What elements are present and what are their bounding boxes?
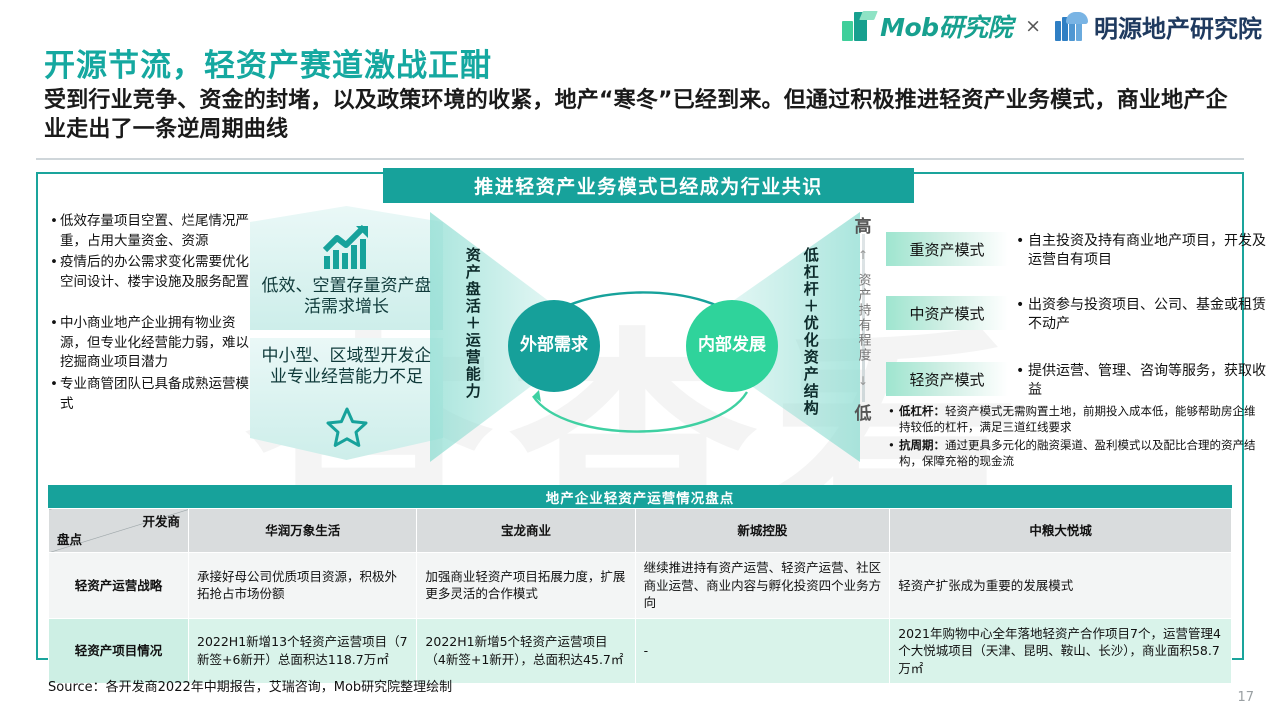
circle-external-demand: 外部需求 <box>508 300 600 392</box>
mode-description: • 自主投资及持有商业地产项目，开发及运营自有项目 <box>1016 232 1266 270</box>
bullet-dot-icon: • <box>1016 232 1028 270</box>
logo-bar: Mob研究院 × 明源地产研究院 <box>842 8 1262 44</box>
list-item: • 中小商业地产企业拥有物业资源，但专业化经营能力弱，难以挖掘商业项目潜力 <box>48 314 258 373</box>
row-header: 轻资产项目情况 <box>49 618 189 684</box>
hex-card-label: 低效、空置存量资产盘活需求增长 <box>258 276 435 319</box>
hex-card-demand: 低效、空置存量资产盘活需求增长 <box>250 206 443 330</box>
bullet-dot-icon: • <box>48 314 60 373</box>
table-cell: 加强商业轻资产项目拓展力度，扩展更多灵活的合作模式 <box>417 553 635 619</box>
funnel-left-label: 资产盘活＋运营能力 <box>464 247 480 400</box>
bullet-dot-icon: • <box>1016 296 1028 334</box>
source-note: Source：各开发商2022年中期报告，艾瑞咨询，Mob研究院整理绘制 <box>48 676 452 695</box>
book-icon <box>1054 11 1088 41</box>
table-cell: 2022H1新增13个轻资产运营项目（7新签+6新开）总面积达118.7万㎡ <box>189 618 417 684</box>
circle-label: 内部发展 <box>698 335 766 356</box>
circle-internal-development: 内部发展 <box>686 300 778 392</box>
table-cell: 继续推进持有资产运营、轻资产运营、社区商业运营、商业内容与孵化投资四个业务方向 <box>635 553 890 619</box>
mode-description-text: 自主投资及持有商业地产项目，开发及运营自有项目 <box>1028 232 1266 270</box>
axis-label-middle: 资产持有程度 <box>857 273 870 363</box>
table-header-row: 开发商 盘点 华润万象生活 宝龙商业 新城控股 中粮大悦城 <box>49 509 1232 553</box>
bullet-group-1: • 低效存量项目空置、烂尾情况严重，占用大量资金、资源 • 疫情后的办公需求变化… <box>48 212 258 292</box>
mob-logo: Mob研究院 <box>842 8 1012 44</box>
axis-arrow-down-icon: ↓ <box>858 375 868 387</box>
note-text: 通过更具多元化的融资渠道、盈利模式以及配比合理的资产结构，保障充裕的现金流 <box>899 438 1256 468</box>
table-row: 轻资产运营战略 承接好母公司优质项目资源，积极外拓抢占市场份额 加强商业轻资产项… <box>49 553 1232 619</box>
mingyuan-logo: 明源地产研究院 <box>1054 9 1262 44</box>
mingyuan-logo-text: 明源地产研究院 <box>1094 9 1262 44</box>
bullet-dot-icon: • <box>48 253 60 292</box>
advantage-notes: • 低杠杆：轻资产模式无需购置土地，前期投入成本低，能够帮助房企维持较低的杠杆，… <box>888 404 1258 472</box>
table-cell: - <box>635 618 890 684</box>
bullet-dot-icon: • <box>888 404 899 435</box>
mode-tag: 中资产模式 <box>886 296 1008 330</box>
table-corner-cell: 开发商 盘点 <box>49 509 189 553</box>
mode-row-medium: 中资产模式 • 出资参与投资项目、公司、基金或租赁不动产 <box>886 296 1266 334</box>
corner-label-metric: 盘点 <box>57 531 82 549</box>
hex-card-label: 中小型、区域型开发企业专业经营能力不足 <box>258 346 435 389</box>
asset-holding-axis: 高 ↑ 资产持有程度 ↓ 低 <box>848 212 878 424</box>
bullet-text: 低效存量项目空置、烂尾情况严重，占用大量资金、资源 <box>60 212 258 251</box>
table-cell: 2021年购物中心全年落地轻资产合作项目7个，运营管理4个大悦城项目（天津、昆明… <box>890 618 1232 684</box>
row-header: 轻资产运营战略 <box>49 553 189 619</box>
mode-description-text: 提供运营、管理、咨询等服务，获取收益 <box>1028 362 1266 400</box>
section-banner: 推进轻资产业务模式已经成为行业共识 <box>383 168 914 203</box>
logo-separator: × <box>1022 15 1044 37</box>
note-body: 抗周期：通过更具多元化的融资渠道、盈利模式以及配比合理的资产结构，保障充裕的现金… <box>899 438 1258 469</box>
mode-row-light: 轻资产模式 • 提供运营、管理、咨询等服务，获取收益 <box>886 362 1266 400</box>
table-cell: 承接好母公司优质项目资源，积极外拓抢占市场份额 <box>189 553 417 619</box>
bullet-text: 中小商业地产企业拥有物业资源，但专业化经营能力弱，难以挖掘商业项目潜力 <box>60 314 258 373</box>
bullet-text: 专业商管团队已具备成熟运营模式 <box>60 375 258 414</box>
bullet-group-2: • 中小商业地产企业拥有物业资源，但专业化经营能力弱，难以挖掘商业项目潜力 • … <box>48 314 258 414</box>
page-subtitle: 受到行业竞争、资金的封堵，以及政策环境的收紧，地产“寒冬”已经到来。但通过积极推… <box>44 86 1244 144</box>
axis-arrow-up-icon: ↑ <box>858 249 868 261</box>
slide: 查查看 Mob研究院 × 明源地产研究院 开源节流，轻资产赛道激战正酣 受到行业… <box>0 0 1280 720</box>
column-header: 宝龙商业 <box>417 509 635 553</box>
bullet-dot-icon: • <box>888 438 899 469</box>
page-number: 17 <box>1237 690 1254 705</box>
mob-mark-icon <box>842 11 876 41</box>
asset-operation-table: 开发商 盘点 华润万象生活 宝龙商业 新城控股 中粮大悦城 轻资产运营战略 承接… <box>48 508 1232 684</box>
note-term: 抗周期： <box>899 438 945 452</box>
funnel-right-label: 低杠杆＋优化资产结构 <box>802 247 818 417</box>
title-divider <box>36 158 1244 160</box>
star-icon <box>325 406 369 452</box>
note-term: 低杠杆： <box>899 404 945 418</box>
note-body: 低杠杆：轻资产模式无需购置土地，前期投入成本低，能够帮助房企维持较低的杠杆，满足… <box>899 404 1258 435</box>
note-text: 轻资产模式无需购置土地，前期投入成本低，能够帮助房企维持较低的杠杆，满足三道红线… <box>899 404 1256 434</box>
bullet-dot-icon: • <box>48 212 60 251</box>
table-cell: 2022H1新增5个轻资产运营项目（4新签+1新开），总面积达45.7㎡ <box>417 618 635 684</box>
column-header: 中粮大悦城 <box>890 509 1232 553</box>
list-item: • 抗周期：通过更具多元化的融资渠道、盈利模式以及配比合理的资产结构，保障充裕的… <box>888 438 1258 469</box>
corner-label-developer: 开发商 <box>142 513 180 531</box>
list-item: • 专业商管团队已具备成熟运营模式 <box>48 375 258 414</box>
mode-tag: 轻资产模式 <box>886 362 1008 396</box>
mode-tag: 重资产模式 <box>886 232 1008 266</box>
table-title: 地产企业轻资产运营情况盘点 <box>48 485 1232 508</box>
mob-logo-text: Mob研究院 <box>880 8 1012 44</box>
axis-label-low: 低 <box>855 399 872 424</box>
column-header: 新城控股 <box>635 509 890 553</box>
mode-description: • 提供运营、管理、咨询等服务，获取收益 <box>1016 362 1266 400</box>
list-item: • 低杠杆：轻资产模式无需购置土地，前期投入成本低，能够帮助房企维持较低的杠杆，… <box>888 404 1258 435</box>
left-bullet-list: • 低效存量项目空置、烂尾情况严重，占用大量资金、资源 • 疫情后的办公需求变化… <box>48 212 258 428</box>
table-row: 轻资产项目情况 2022H1新增13个轻资产运营项目（7新签+6新开）总面积达1… <box>49 618 1232 684</box>
mode-description-text: 出资参与投资项目、公司、基金或租赁不动产 <box>1028 296 1266 334</box>
axis-label-high: 高 <box>855 212 872 237</box>
list-item: • 疫情后的办公需求变化需要优化空间设计、楼宇设施及服务配置 <box>48 253 258 292</box>
mode-description: • 出资参与投资项目、公司、基金或租赁不动产 <box>1016 296 1266 334</box>
mode-row-heavy: 重资产模式 • 自主投资及持有商业地产项目，开发及运营自有项目 <box>886 232 1266 270</box>
bullet-dot-icon: • <box>48 375 60 414</box>
column-header: 华润万象生活 <box>189 509 417 553</box>
circle-label: 外部需求 <box>520 335 588 356</box>
bullet-dot-icon: • <box>1016 362 1028 400</box>
hex-card-capability: 中小型、区域型开发企业专业经营能力不足 <box>250 338 443 460</box>
bullet-text: 疫情后的办公需求变化需要优化空间设计、楼宇设施及服务配置 <box>60 253 258 292</box>
table-cell: 轻资产扩张成为重要的发展模式 <box>890 553 1232 619</box>
growth-chart-icon <box>320 224 374 276</box>
page-title: 开源节流，轻资产赛道激战正酣 <box>44 40 492 85</box>
list-item: • 低效存量项目空置、烂尾情况严重，占用大量资金、资源 <box>48 212 258 251</box>
